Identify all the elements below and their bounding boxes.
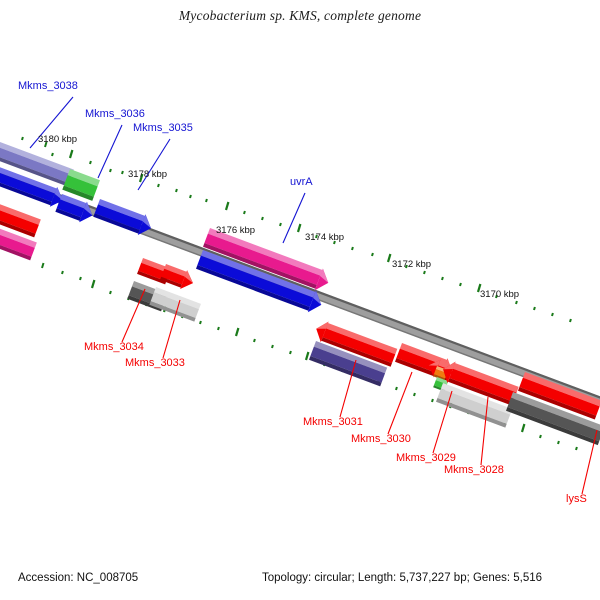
gene-label[interactable]: Mkms_3034 bbox=[84, 341, 144, 353]
tick-mark bbox=[22, 137, 23, 140]
tick-mark bbox=[372, 253, 373, 256]
tick-mark bbox=[442, 277, 443, 280]
tick-mark bbox=[80, 277, 81, 280]
tick-mark bbox=[52, 153, 53, 156]
tick-mark bbox=[576, 447, 577, 450]
tick-mark bbox=[176, 189, 177, 192]
kbp-label: 3180 kbp bbox=[38, 134, 77, 145]
tick-mark bbox=[516, 301, 517, 304]
tick-mark bbox=[110, 169, 111, 172]
kbp-label: 3172 kbp bbox=[392, 259, 431, 270]
tick-mark bbox=[570, 319, 571, 322]
gene-label[interactable]: Mkms_3036 bbox=[85, 108, 145, 120]
gene-label[interactable]: Mkms_3033 bbox=[125, 357, 185, 369]
tick-mark bbox=[460, 283, 461, 286]
genome-summary-text: Topology: circular; Length: 5,737,227 bp… bbox=[262, 572, 542, 584]
tick-mark bbox=[272, 345, 273, 348]
tick-mark bbox=[90, 161, 91, 164]
gene-label[interactable]: uvrA bbox=[290, 176, 313, 188]
leader-line bbox=[283, 193, 305, 243]
gene-label[interactable]: Mkms_3028 bbox=[444, 464, 504, 476]
tick-mark bbox=[190, 195, 191, 198]
tick-mark bbox=[110, 291, 111, 294]
tick-mark bbox=[522, 424, 524, 432]
tick-mark bbox=[62, 271, 63, 274]
tick-mark bbox=[92, 280, 94, 288]
genome-viewer: Mycobacterium sp. KMS, complete genome 3… bbox=[0, 0, 600, 600]
gene-label[interactable]: Mkms_3035 bbox=[133, 122, 193, 134]
tick-mark bbox=[552, 313, 553, 316]
tick-mark bbox=[42, 263, 44, 268]
tick-mark bbox=[236, 328, 238, 336]
genome-map[interactable]: 3180 kbp3178 kbp3176 kbp3174 kbp3172 kbp… bbox=[0, 0, 600, 600]
tick-mark bbox=[352, 247, 353, 250]
tick-mark bbox=[254, 339, 255, 342]
kbp-label: 3170 kbp bbox=[480, 289, 519, 300]
tick-mark bbox=[290, 351, 291, 354]
tick-mark bbox=[244, 211, 245, 214]
tick-mark bbox=[262, 217, 263, 220]
tick-mark bbox=[540, 435, 541, 438]
tick-mark bbox=[558, 441, 559, 444]
tick-mark bbox=[396, 387, 397, 390]
tick-mark bbox=[424, 271, 425, 274]
tick-mark bbox=[158, 184, 159, 187]
tick-mark bbox=[280, 223, 281, 226]
tick-mark bbox=[218, 327, 219, 330]
gene-label[interactable]: Mkms_3030 bbox=[351, 433, 411, 445]
tick-mark bbox=[388, 254, 390, 262]
gene-arrow[interactable] bbox=[160, 263, 197, 293]
leader-line bbox=[138, 139, 170, 190]
tick-mark bbox=[534, 307, 535, 310]
kbp-label: 3174 kbp bbox=[305, 232, 344, 243]
tick-mark bbox=[206, 199, 207, 202]
tick-mark bbox=[122, 171, 123, 174]
kbp-label: 3178 kbp bbox=[128, 169, 167, 180]
gene-label[interactable]: Mkms_3029 bbox=[396, 452, 456, 464]
tick-mark bbox=[200, 321, 201, 324]
gene-label[interactable]: Mkms_3031 bbox=[303, 416, 363, 428]
tick-mark bbox=[298, 224, 300, 232]
tick-mark bbox=[414, 393, 415, 396]
kbp-label: 3176 kbp bbox=[216, 225, 255, 236]
gene-label[interactable]: lysS bbox=[566, 493, 587, 505]
tick-mark bbox=[226, 202, 228, 210]
accession-text: Accession: NC_008705 bbox=[18, 572, 138, 584]
gene-label[interactable]: Mkms_3038 bbox=[18, 80, 78, 92]
tick-mark bbox=[432, 399, 433, 402]
tick-mark bbox=[306, 352, 308, 360]
tick-mark bbox=[70, 150, 72, 158]
leader-line bbox=[388, 372, 412, 434]
